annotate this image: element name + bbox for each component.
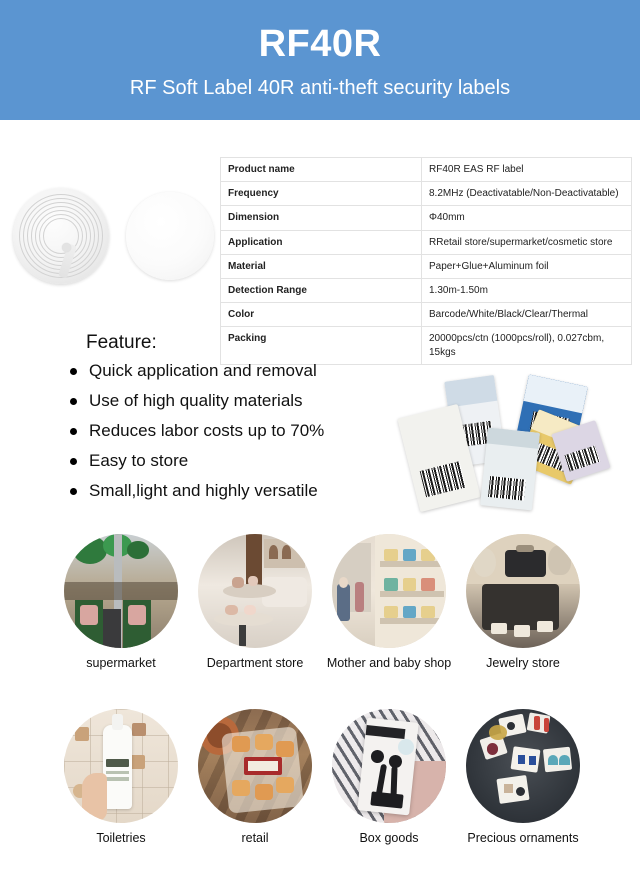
- feature-text: Reduces labor costs up to 70%: [89, 421, 324, 440]
- feature-section: Feature: Quick application and removal U…: [68, 332, 398, 512]
- spec-label: Frequency: [221, 182, 422, 206]
- list-item: Quick application and removal: [68, 362, 398, 379]
- feature-text: Easy to store: [89, 451, 188, 470]
- spec-label: Detection Range: [221, 278, 422, 302]
- bullet-icon: [70, 458, 77, 465]
- bullet-icon: [70, 428, 77, 435]
- feature-list: Quick application and removal Use of hig…: [68, 362, 398, 499]
- bullet-icon: [70, 488, 77, 495]
- list-item: Use of high quality materials: [68, 392, 398, 409]
- application-cell-toiletries: Toiletries: [62, 709, 180, 846]
- page-title: RF40R: [259, 25, 382, 65]
- spec-label: Product name: [221, 158, 422, 182]
- list-item: Small,light and highly versatile: [68, 482, 398, 499]
- feature-heading: Feature:: [86, 332, 398, 354]
- photo-caption: Toiletries: [96, 832, 145, 846]
- photo-caption: retail: [241, 832, 268, 846]
- toiletries-photo: [64, 709, 178, 823]
- spec-label: Material: [221, 254, 422, 278]
- photo-caption: supermarket: [86, 657, 155, 671]
- spec-value: RRetail store/supermarket/cosmetic store: [422, 230, 632, 254]
- retail-photo: [198, 709, 312, 823]
- feature-text: Small,light and highly versatile: [89, 481, 318, 500]
- box-goods-photo: [332, 709, 446, 823]
- application-cell-supermarket: supermarket: [62, 534, 180, 671]
- spec-label: Application: [221, 230, 422, 254]
- feature-text: Use of high quality materials: [89, 391, 303, 410]
- rf-label-plain-icon: [126, 192, 214, 280]
- table-row: Color Barcode/White/Black/Clear/Thermal: [221, 303, 632, 327]
- photo-caption: Department store: [207, 657, 304, 671]
- spec-value: 8.2MHz (Deactivatable/Non-Deactivatable): [422, 182, 632, 206]
- feature-text: Quick application and removal: [89, 361, 317, 380]
- application-cell-precious-ornaments: Precious ornaments: [464, 709, 582, 846]
- spec-value: Barcode/White/Black/Clear/Thermal: [422, 303, 632, 327]
- table-row: Product name RF40R EAS RF label: [221, 158, 632, 182]
- application-cell-mother-baby: Mother and baby shop: [330, 534, 448, 671]
- supermarket-photo: [64, 534, 178, 648]
- rf-label-coil-icon: [13, 188, 109, 284]
- photo-caption: Precious ornaments: [467, 832, 578, 846]
- photo-caption: Jewelry store: [486, 657, 560, 671]
- photo-caption: Mother and baby shop: [327, 657, 451, 671]
- application-cell-department-store: Department store: [196, 534, 314, 671]
- department-store-photo: [198, 534, 312, 648]
- application-photo-row-2: Toiletries retail: [62, 709, 582, 846]
- application-photo-row-1: supermarket Department store: [62, 534, 582, 671]
- spec-label: Color: [221, 303, 422, 327]
- jewelry-store-photo: [466, 534, 580, 648]
- labelled-products-photo: [398, 378, 634, 524]
- table-row: Frequency 8.2MHz (Deactivatable/Non-Deac…: [221, 182, 632, 206]
- table-row: Dimension Φ40mm: [221, 206, 632, 230]
- spec-label: Dimension: [221, 206, 422, 230]
- list-item: Easy to store: [68, 452, 398, 469]
- bullet-icon: [70, 368, 77, 375]
- table-row: Material Paper+Glue+Aluminum foil: [221, 254, 632, 278]
- spec-value: Paper+Glue+Aluminum foil: [422, 254, 632, 278]
- spec-value: 20000pcs/ctn (1000pcs/roll), 0.027cbm, 1…: [422, 327, 632, 364]
- table-row: Application RRetail store/supermarket/co…: [221, 230, 632, 254]
- bullet-icon: [70, 398, 77, 405]
- spec-value: RF40R EAS RF label: [422, 158, 632, 182]
- photo-caption: Box goods: [359, 832, 418, 846]
- mother-and-baby-shop-photo: [332, 534, 446, 648]
- page-subtitle: RF Soft Label 40R anti-theft security la…: [130, 77, 510, 99]
- page-header: RF40R RF Soft Label 40R anti-theft secur…: [0, 0, 640, 120]
- application-cell-jewelry-store: Jewelry store: [464, 534, 582, 671]
- application-cell-box-goods: Box goods: [330, 709, 448, 846]
- product-hero-photos: [8, 186, 213, 286]
- list-item: Reduces labor costs up to 70%: [68, 422, 398, 439]
- spec-value: 1.30m-1.50m: [422, 278, 632, 302]
- table-row: Detection Range 1.30m-1.50m: [221, 278, 632, 302]
- precious-ornaments-photo: [466, 709, 580, 823]
- spec-value: Φ40mm: [422, 206, 632, 230]
- application-cell-retail: retail: [196, 709, 314, 846]
